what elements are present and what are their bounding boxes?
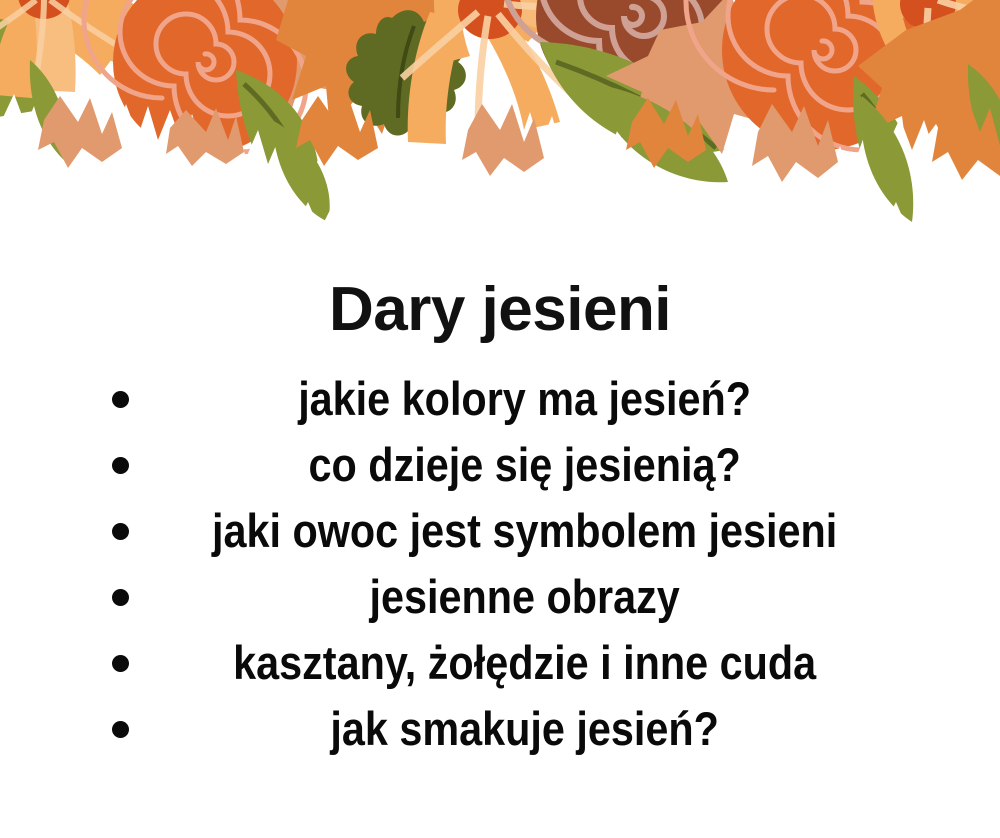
list-item: jesienne obrazy [0,564,1000,630]
list-item-label: jesienne obrazy [60,564,940,630]
topic-list: jakie kolory ma jesień? co dzieje się je… [0,366,1000,762]
list-item: jak smakuje jesień? [0,696,1000,762]
floral-border-artwork [0,0,1000,240]
list-item-label: jaki owoc jest symbolem jesieni [60,498,940,564]
list-item: co dzieje się jesienią? [0,432,1000,498]
list-item-label: jakie kolory ma jesień? [60,366,940,432]
poster-canvas: Dary jesieni jakie kolory ma jesień? co … [0,0,1000,838]
list-item-label: kasztany, żołędzie i inne cuda [60,630,940,696]
list-item-label: co dzieje się jesienią? [60,432,940,498]
list-item: jakie kolory ma jesień? [0,366,1000,432]
list-item-label: jak smakuje jesień? [60,696,940,762]
page-title: Dary jesieni [0,279,1000,341]
autumn-floral-border [0,0,1000,240]
list-item: jaki owoc jest symbolem jesieni [0,498,1000,564]
list-item: kasztany, żołędzie i inne cuda [0,630,1000,696]
